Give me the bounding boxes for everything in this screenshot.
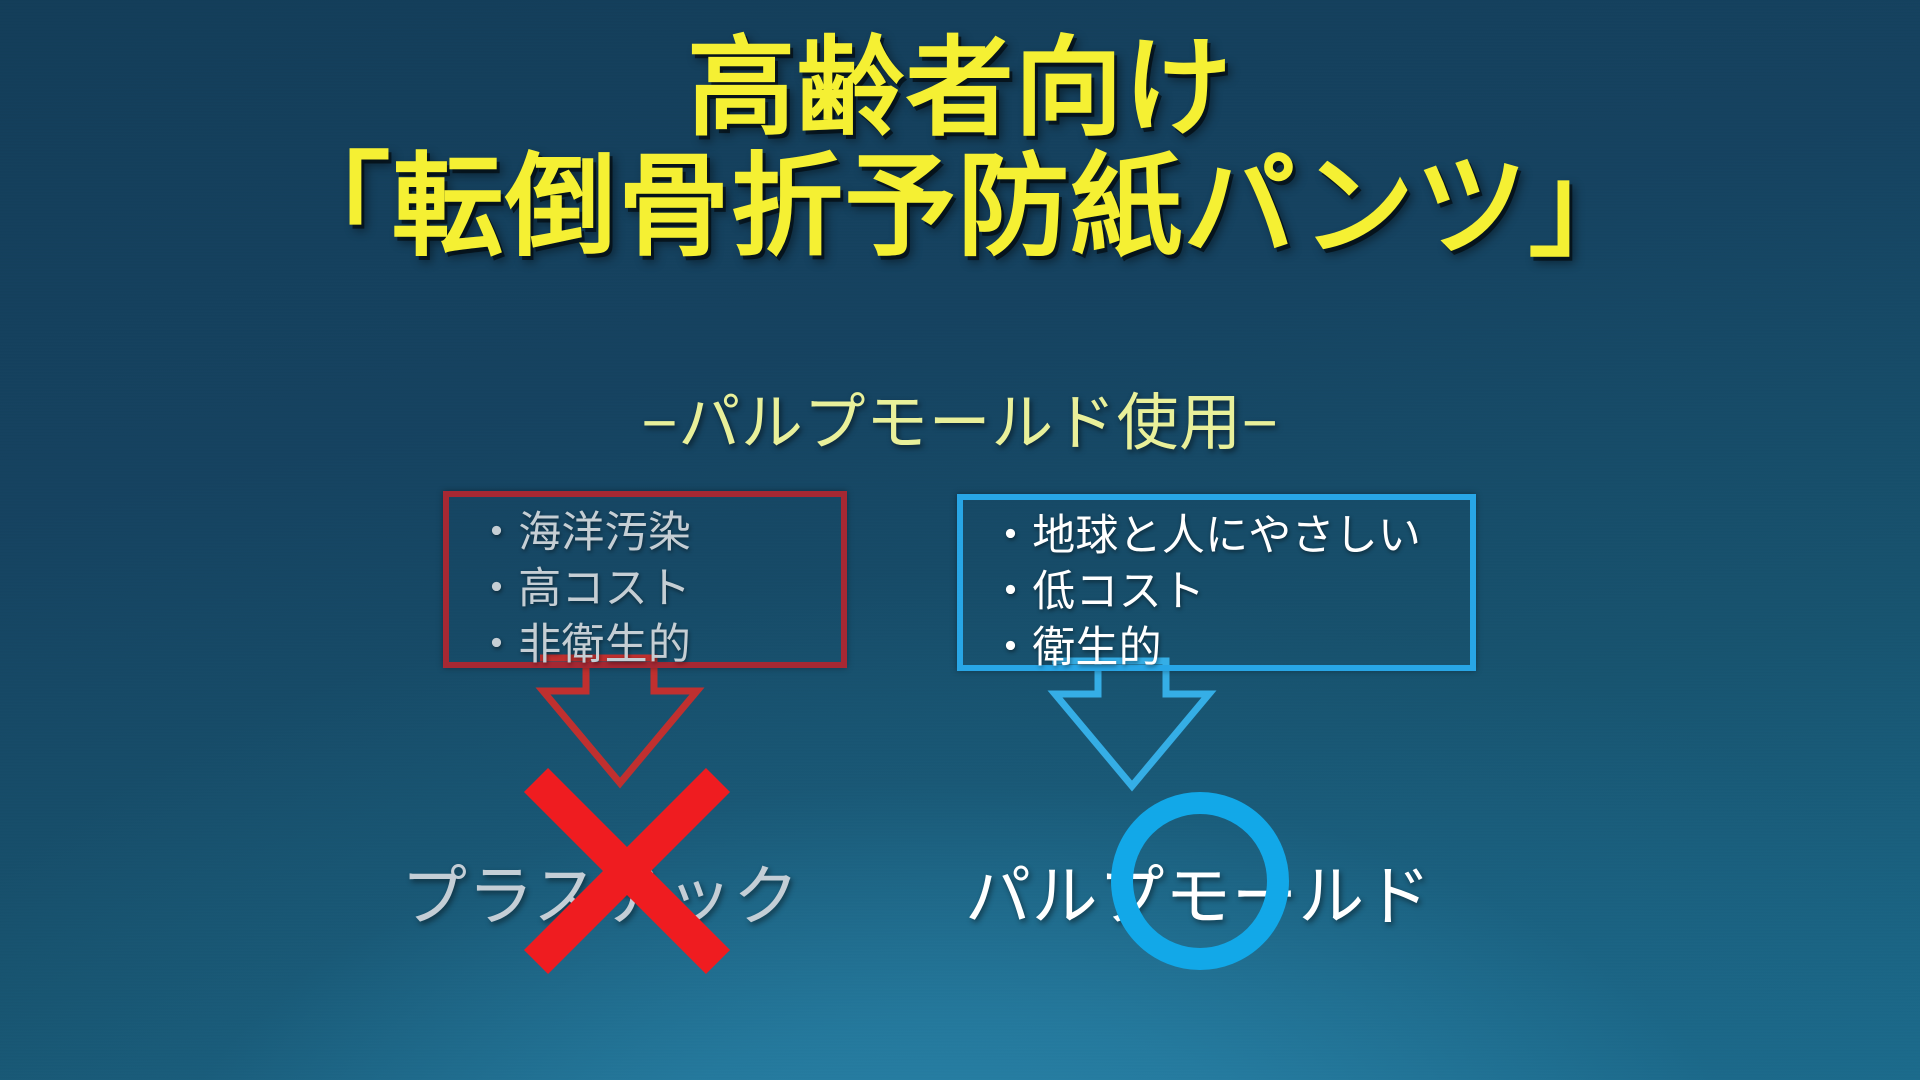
- plastic-drawbacks-box: ・海洋汚染 ・高コスト ・非衛生的: [443, 491, 847, 668]
- circle-mark-icon: [1105, 786, 1295, 976]
- list-item: ・衛生的: [989, 621, 1421, 677]
- pulp-bullet-list: ・地球と人にやさしい ・低コスト ・衛生的: [989, 509, 1421, 677]
- list-item: ・非衛生的: [475, 618, 691, 674]
- slide-canvas: 高齢者向け 「転倒骨折予防紙パンツ」 −パルプモールド使用− ・海洋汚染 ・高コ…: [0, 0, 1920, 1080]
- cross-mark-icon: [512, 756, 742, 986]
- list-item: ・海洋汚染: [475, 506, 691, 562]
- title-line-2: 「転倒骨折予防紙パンツ」: [0, 143, 1920, 271]
- subtitle: −パルプモールド使用−: [0, 372, 1920, 462]
- title-block: 高齢者向け 「転倒骨折予防紙パンツ」: [0, 26, 1920, 271]
- pulp-benefits-box: ・地球と人にやさしい ・低コスト ・衛生的: [957, 494, 1476, 671]
- title-line-1: 高齢者向け: [0, 26, 1920, 149]
- list-item: ・高コスト: [475, 562, 691, 618]
- list-item: ・低コスト: [989, 565, 1421, 621]
- plastic-bullet-list: ・海洋汚染 ・高コスト ・非衛生的: [475, 506, 691, 674]
- list-item: ・地球と人にやさしい: [989, 509, 1421, 565]
